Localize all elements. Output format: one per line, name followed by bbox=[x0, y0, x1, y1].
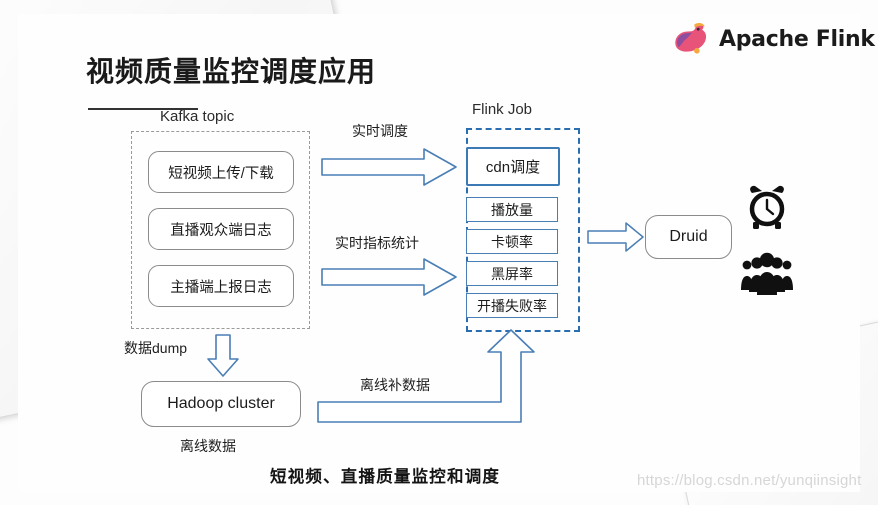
flink-job-cdn-schedule[interactable]: cdn调度 bbox=[466, 147, 560, 186]
watermark-text: https://blog.csdn.net/yunqiinsight bbox=[637, 472, 861, 489]
realtime-metrics-label: 实时指标统计 bbox=[335, 233, 419, 253]
hadoop-cluster-node[interactable]: Hadoop cluster bbox=[141, 381, 301, 427]
flink-job-label: Flink Job bbox=[472, 101, 532, 118]
offline-backfill-label: 离线补数据 bbox=[360, 375, 430, 395]
realtime-schedule-label: 实时调度 bbox=[352, 121, 408, 141]
alarm-clock-icon bbox=[745, 183, 789, 231]
apache-flink-squirrel-icon bbox=[668, 18, 710, 60]
hadoop-offline-data-label: 离线数据 bbox=[180, 436, 236, 456]
page-title: 视频质量监控调度应用 bbox=[86, 50, 376, 90]
flink-metric-box[interactable]: 卡顿率 bbox=[466, 229, 558, 254]
people-group-icon bbox=[741, 252, 793, 296]
kafka-topic-item[interactable]: 短视频上传/下载 bbox=[148, 151, 294, 193]
kafka-topic-label: Kafka topic bbox=[160, 108, 234, 125]
apache-flink-wordmark: Apache Flink bbox=[719, 27, 875, 52]
flink-metric-box[interactable]: 开播失败率 bbox=[466, 293, 558, 318]
flink-to-druid-arrow bbox=[586, 220, 646, 254]
slide-bottom-caption: 短视频、直播质量监控和调度 bbox=[270, 463, 500, 487]
flink-metric-box[interactable]: 黑屏率 bbox=[466, 261, 558, 286]
realtime-schedule-arrow bbox=[320, 146, 460, 188]
flink-metric-box[interactable]: 播放量 bbox=[466, 197, 558, 222]
data-dump-arrow bbox=[205, 333, 241, 379]
kafka-topic-item[interactable]: 主播端上报日志 bbox=[148, 265, 294, 307]
data-dump-label: 数据dump bbox=[124, 338, 187, 358]
offline-backfill-arrow bbox=[315, 328, 545, 428]
druid-node[interactable]: Druid bbox=[645, 215, 732, 259]
slide-canvas: Apache Flink 视频质量监控调度应用 Kafka topic 短视频上… bbox=[0, 0, 878, 505]
realtime-metrics-arrow bbox=[320, 256, 460, 298]
kafka-topic-item[interactable]: 直播观众端日志 bbox=[148, 208, 294, 250]
apache-flink-logo: Apache Flink bbox=[668, 18, 875, 60]
